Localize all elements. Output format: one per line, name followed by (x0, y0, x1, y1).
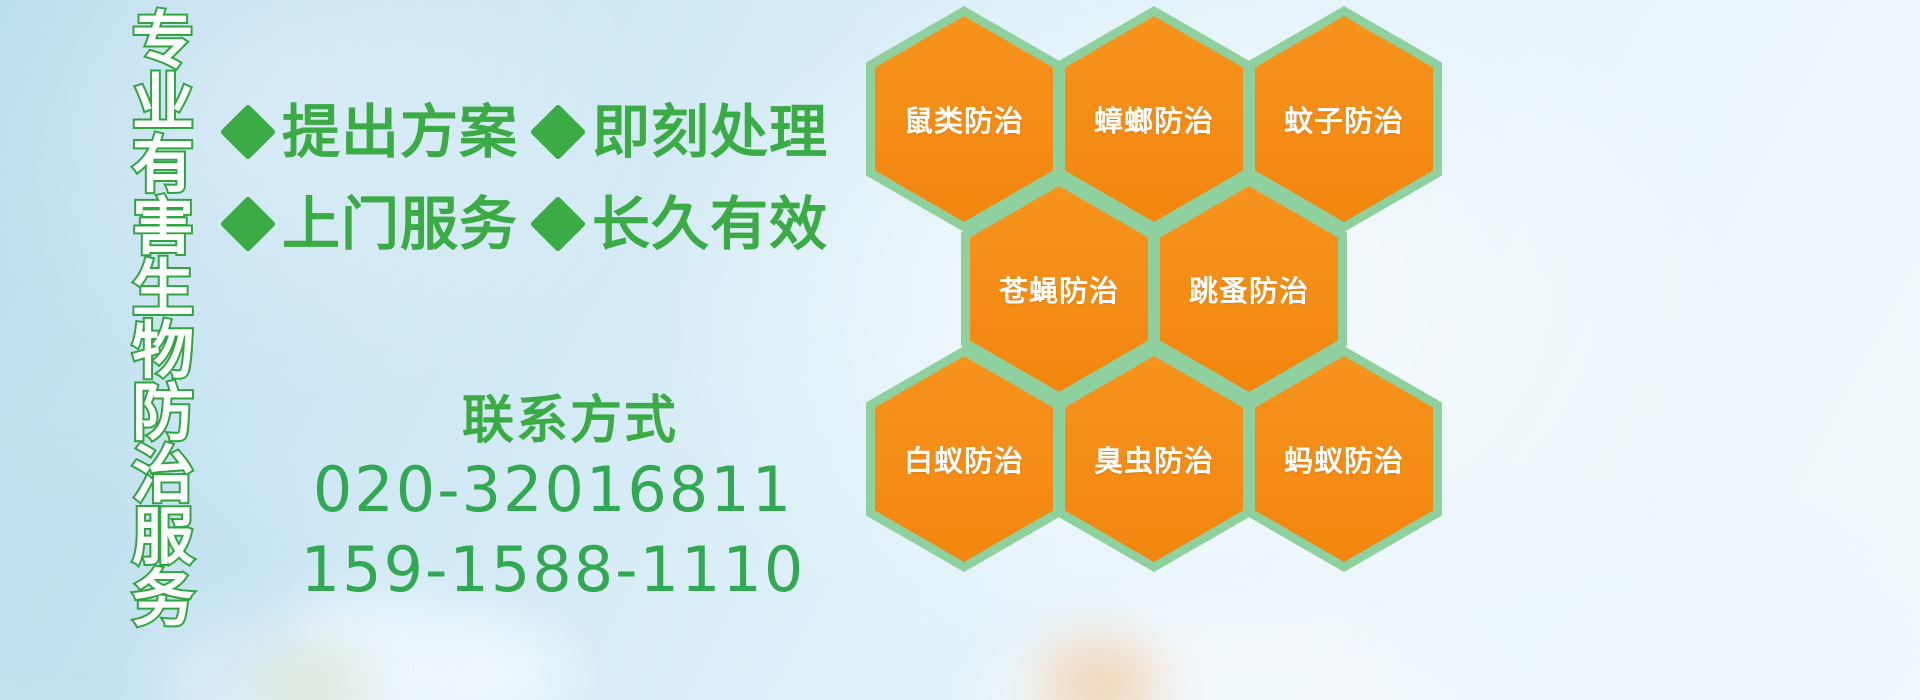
vertical-headline-char: 务 (132, 568, 194, 630)
service-label: 臭虫防治 (1094, 438, 1214, 480)
background-blur-blob (1040, 640, 1160, 700)
background-blur-blob (980, 610, 1500, 700)
vertical-headline-char: 防 (132, 382, 194, 444)
service-honeycomb-grid: 鼠类防治 蟑螂防治 蚊子防治 苍蝇防治 跳蚤防治 白蚁防治 臭虫防治 蚂蚁 (862, 0, 1462, 556)
vertical-headline-char: 专 (132, 10, 194, 72)
diamond-icon (220, 196, 277, 253)
background-blur-blob (250, 650, 370, 700)
feature-item-long-lasting-effect: 长久有效 (538, 195, 828, 253)
feature-item-propose-plan: 提出方案 (228, 103, 518, 161)
vertical-headline-char: 业 (132, 72, 194, 134)
banner-canvas: 专 业 有 害 生 物 防 治 服 务 提出方案 即刻处理 上门服务 (0, 0, 1920, 700)
feature-label: 长久有效 (592, 195, 828, 253)
contact-title: 联系方式 (462, 392, 678, 450)
contact-block: 联系方式 020-32016811 159-1588-1110 (228, 392, 878, 609)
phone-number-mobile[interactable]: 159-1588-1110 (301, 530, 806, 609)
feature-row: 上门服务 长久有效 (228, 178, 878, 270)
vertical-headline-char: 服 (132, 506, 194, 568)
diamond-icon (530, 104, 587, 161)
phone-number-landline[interactable]: 020-32016811 (313, 450, 793, 529)
vertical-headline-char: 治 (132, 444, 194, 506)
feature-label: 提出方案 (282, 103, 518, 161)
service-label: 白蚁防治 (904, 438, 1024, 480)
diamond-icon (530, 196, 587, 253)
feature-label: 即刻处理 (592, 103, 828, 161)
feature-row: 提出方案 即刻处理 (228, 86, 878, 178)
vertical-headline: 专 业 有 害 生 物 防 治 服 务 (104, 10, 222, 555)
background-blur-blob (150, 600, 570, 700)
feature-item-door-to-door-service: 上门服务 (228, 195, 518, 253)
service-label: 蚂蚁防治 (1284, 438, 1404, 480)
vertical-headline-char: 害 (132, 196, 194, 258)
service-label: 跳蚤防治 (1189, 268, 1309, 310)
feature-list: 提出方案 即刻处理 上门服务 长久有效 (228, 86, 878, 270)
service-label: 鼠类防治 (904, 98, 1024, 140)
vertical-headline-char: 物 (132, 320, 194, 382)
background-blur-blob (1380, 540, 1920, 700)
vertical-headline-char: 有 (132, 134, 194, 196)
diamond-icon (220, 104, 277, 161)
vertical-headline-char: 生 (132, 258, 194, 320)
feature-item-immediate-handling: 即刻处理 (538, 103, 828, 161)
service-label: 蚊子防治 (1284, 98, 1404, 140)
feature-label: 上门服务 (282, 195, 518, 253)
service-label: 蟑螂防治 (1094, 98, 1214, 140)
service-label: 苍蝇防治 (999, 268, 1119, 310)
